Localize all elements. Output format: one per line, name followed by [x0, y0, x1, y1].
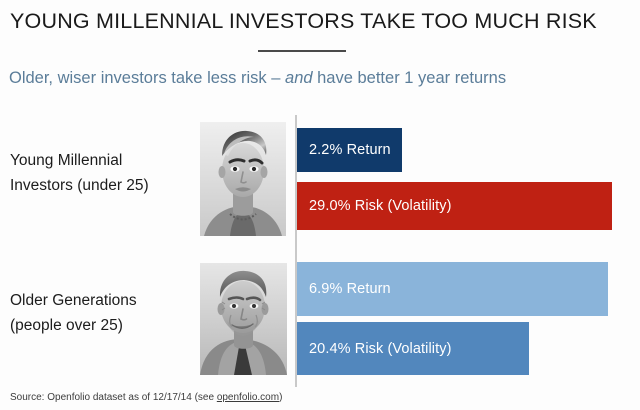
bar-older-risk: 20.4% Risk (Volatility): [297, 322, 529, 375]
subtitle-text-after: have better 1 year returns: [313, 69, 507, 87]
subtitle-emphasis: and: [285, 69, 313, 87]
bar-label: 20.4% Risk (Volatility): [309, 341, 452, 357]
bar-older-return: 6.9% Return: [297, 262, 608, 316]
row-label-line1: Young Millennial: [10, 152, 122, 169]
bar-label: 2.2% Return: [309, 142, 391, 158]
row-label-older-generations: Older Generations (people over 25): [10, 288, 195, 338]
portrait-young-millennial: [200, 122, 286, 236]
source-note: Source: Openfolio dataset as of 12/17/14…: [10, 392, 282, 403]
page-title: YOUNG MILLENNIAL INVESTORS TAKE TOO MUCH…: [10, 8, 630, 34]
row-label-line1: Older Generations: [10, 292, 137, 309]
row-label-line2: (people over 25): [10, 313, 195, 338]
row-label-line2: Investors (under 25): [10, 173, 195, 198]
bar-label: 29.0% Risk (Volatility): [309, 198, 452, 214]
row-label-young-millennial: Young Millennial Investors (under 25): [10, 148, 195, 198]
slide-canvas: YOUNG MILLENNIAL INVESTORS TAKE TOO MUCH…: [0, 0, 640, 410]
page-subtitle: Older, wiser investors take less risk – …: [9, 67, 634, 89]
source-prefix: Source: Openfolio dataset as of 12/17/14…: [10, 392, 217, 403]
bar-young-risk: 29.0% Risk (Volatility): [297, 182, 612, 230]
bar-young-return: 2.2% Return: [297, 128, 402, 172]
subtitle-text-before: Older, wiser investors take less risk –: [9, 69, 285, 87]
source-suffix: ): [279, 392, 282, 403]
source-link-openfolio[interactable]: openfolio.com: [217, 392, 279, 403]
portrait-older-generation: [200, 263, 287, 375]
bar-label: 6.9% Return: [309, 281, 391, 297]
title-divider: [258, 50, 346, 52]
